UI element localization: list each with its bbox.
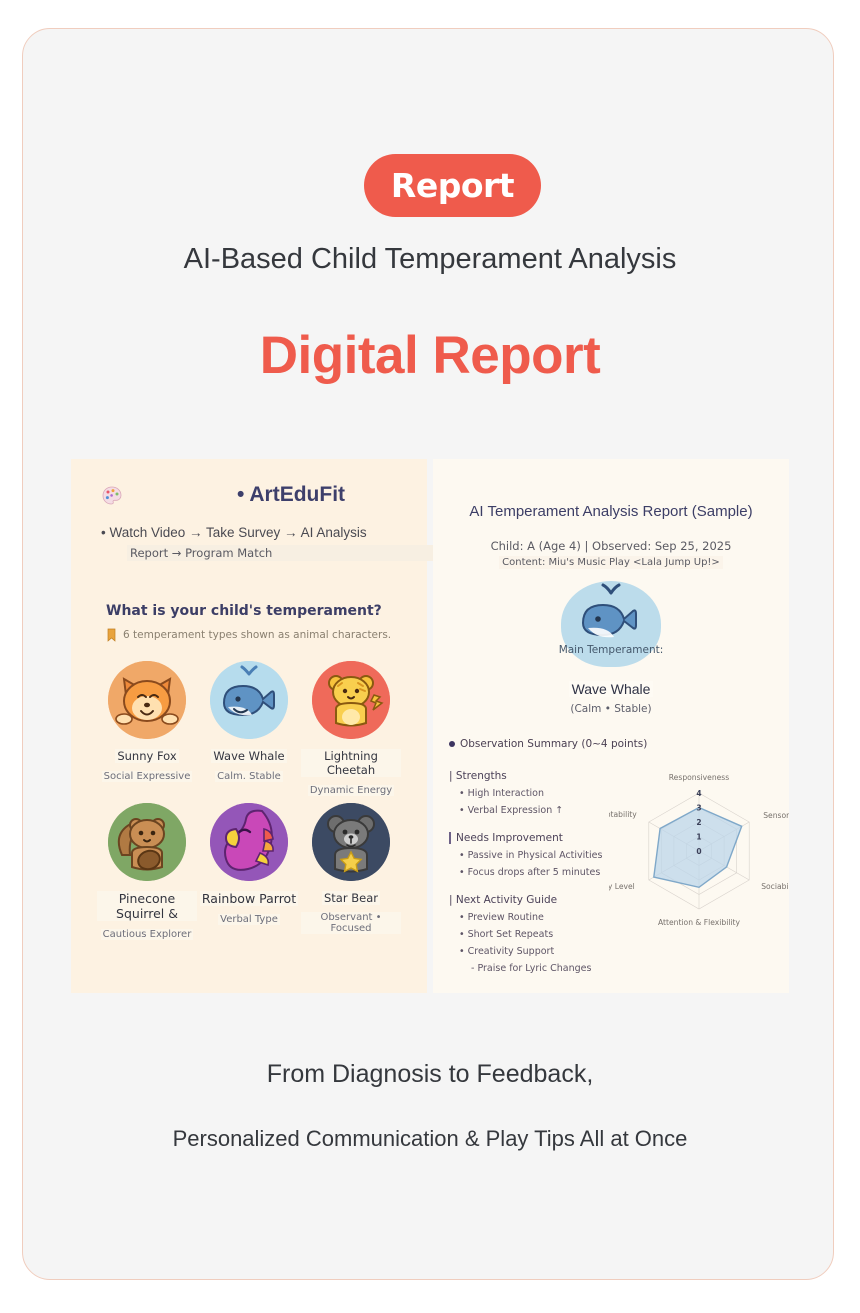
character-grid: Sunny Fox Social Expressive xyxy=(97,661,407,945)
character-cell-bear[interactable]: Star Bear Observant • Focused xyxy=(301,803,401,935)
section-item: - Praise for Lyric Changes xyxy=(471,963,591,974)
child-info: Child: A (Age 4) | Observed: Sep 25, 202… xyxy=(433,539,789,553)
main-temperament-name: Wave Whale xyxy=(433,681,789,697)
page-title: Digital Report xyxy=(0,325,860,386)
character-desc: Cautious Explorer xyxy=(101,929,194,940)
character-desc: Observant • Focused xyxy=(301,912,401,934)
radar-chart: 01234ResponsivenessSensory SensitivitySo… xyxy=(609,751,789,951)
character-row: Sunny Fox Social Expressive xyxy=(97,661,407,761)
page-subtitle: AI-Based Child Temperament Analysis xyxy=(0,243,860,276)
svg-text:1: 1 xyxy=(696,833,701,842)
main-temperament-sub: (Calm • Stable) xyxy=(433,703,789,715)
brand-row: • ArtEduFit xyxy=(101,483,401,519)
svg-text:4: 4 xyxy=(696,789,701,798)
section-item: • Focus drops after 5 minutes xyxy=(459,867,602,878)
svg-text:Responsiveness: Responsiveness xyxy=(669,773,730,782)
content-info: Content: Miu's Music Play <Lala Jump Up!… xyxy=(433,557,789,568)
left-card: • ArtEduFit • Watch Video → Take Survey … xyxy=(71,459,427,993)
character-row: Pinecone Squirrel & Cautious Explorer xyxy=(97,803,407,903)
bookmark-icon xyxy=(107,627,116,641)
observation-heading: Observation Summary (0~4 points) xyxy=(449,738,647,750)
svg-text:2: 2 xyxy=(696,818,701,827)
section-next-activity: | Next Activity Guide • Preview Routine … xyxy=(449,894,591,974)
report-badge-label: Report xyxy=(391,166,514,205)
section-title: | Next Activity Guide xyxy=(449,894,591,906)
character-desc: Calm. Stable xyxy=(215,771,283,782)
section-item: • Verbal Expression ↑ xyxy=(459,805,563,816)
character-cell-fox[interactable]: Sunny Fox Social Expressive xyxy=(97,661,197,783)
brand-name: • ArtEduFit xyxy=(161,483,421,507)
svg-text:Activity Level: Activity Level xyxy=(609,882,635,891)
section-strengths: | Strengths • High Interaction • Verbal … xyxy=(449,770,563,816)
question-title: What is your child's temperament? xyxy=(106,603,382,619)
question-sub: 6 temperament types shown as animal char… xyxy=(123,629,391,641)
section-title: | Strengths xyxy=(449,770,563,782)
flow-line-1: • Watch Video → Take Survey → AI Analysi… xyxy=(101,525,411,540)
svg-text:Sociability: Sociability xyxy=(761,882,789,891)
section-title: Needs Improvement xyxy=(449,832,602,844)
flow-line-2: Report → Program Match xyxy=(127,545,433,561)
character-desc: Social Expressive xyxy=(102,771,193,782)
character-name: Wave Whale xyxy=(211,749,286,763)
footer-line-1: From Diagnosis to Feedback, xyxy=(0,1060,860,1089)
bear-icon xyxy=(312,803,390,881)
cheetah-icon xyxy=(312,661,390,739)
character-cell-parrot[interactable]: Rainbow Parrot Verbal Type xyxy=(199,803,299,926)
character-name: Lightning Cheetah xyxy=(301,749,401,777)
character-cell-squirrel[interactable]: Pinecone Squirrel & Cautious Explorer xyxy=(97,803,197,941)
parrot-icon xyxy=(210,803,288,881)
section-needs-improvement: Needs Improvement • Passive in Physical … xyxy=(449,832,602,878)
svg-text:0: 0 xyxy=(696,847,701,856)
character-desc: Verbal Type xyxy=(218,914,280,925)
whale-icon xyxy=(210,661,288,739)
section-item: • Creativity Support xyxy=(459,946,591,957)
main-temperament-label: Main Temperament: xyxy=(433,644,789,656)
svg-text:Attention & Flexibility: Attention & Flexibility xyxy=(658,918,741,927)
character-name: Sunny Fox xyxy=(115,749,178,763)
right-card: AI Temperament Analysis Report (Sample) … xyxy=(433,459,789,993)
section-item: • Short Set Repeats xyxy=(459,929,591,940)
report-title: AI Temperament Analysis Report (Sample) xyxy=(433,503,789,520)
character-name: Pinecone Squirrel & xyxy=(97,891,197,921)
character-name: Rainbow Parrot xyxy=(200,891,298,906)
section-item: • High Interaction xyxy=(459,788,563,799)
section-item: • Preview Routine xyxy=(459,912,591,923)
report-badge: Report xyxy=(364,154,541,217)
section-item: • Passive in Physical Activities xyxy=(459,850,602,861)
fox-icon xyxy=(108,661,186,739)
svg-text:Sensory Sensitivity: Sensory Sensitivity xyxy=(763,811,789,820)
character-cell-whale[interactable]: Wave Whale Calm. Stable xyxy=(199,661,299,783)
palette-icon xyxy=(101,485,123,507)
svg-text:3: 3 xyxy=(696,804,701,813)
character-name: Star Bear xyxy=(322,891,380,905)
footer-line-2: Personalized Communication & Play Tips A… xyxy=(0,1126,860,1152)
character-desc: Dynamic Energy xyxy=(308,785,394,796)
bullet-dot-icon xyxy=(449,741,455,747)
cards-row: • ArtEduFit • Watch Video → Take Survey … xyxy=(71,459,789,993)
svg-text:Adaptability: Adaptability xyxy=(609,810,637,819)
character-cell-cheetah[interactable]: Lightning Cheetah Dynamic Energy xyxy=(301,661,401,797)
squirrel-icon xyxy=(108,803,186,881)
